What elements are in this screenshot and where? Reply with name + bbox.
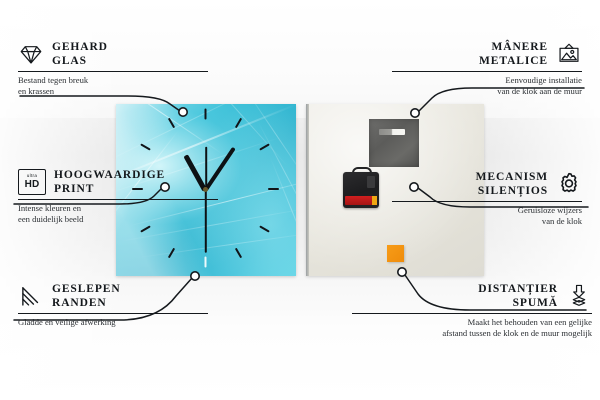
spacer-stack-icon — [566, 283, 592, 309]
foam-spacer — [387, 245, 404, 262]
product-feature-infographic: GEHARD GLAS Bestand tegen breuk en krass… — [0, 0, 600, 400]
feature-title: GESLEPEN RANDEN — [52, 282, 121, 310]
hanger-slot — [379, 129, 405, 135]
feature-description-line1: Maakt het behouden van een gelijke — [352, 317, 592, 328]
feature-description-line2: van de klok aan de muur — [392, 86, 582, 97]
title-underline — [18, 313, 208, 314]
feature-header: GEHARD GLAS — [18, 40, 208, 68]
feature-gehard-glas[interactable]: GEHARD GLAS Bestand tegen breuk en krass… — [18, 40, 208, 98]
feature-title: MÂNERE METALICE — [479, 40, 548, 68]
feature-description-line1: Geruisloze wijzers — [392, 205, 582, 216]
diamond-icon — [18, 41, 44, 67]
ultra-hd-icon: ultra HD — [18, 169, 46, 195]
gear-icon — [556, 171, 582, 197]
feature-description-line1: Intense kleuren en — [18, 203, 218, 214]
picture-frame-icon — [556, 41, 582, 67]
feature-header: MÂNERE METALICE — [392, 40, 582, 68]
feature-title: GEHARD GLAS — [52, 40, 108, 68]
metal-hanger-plate — [369, 119, 419, 167]
feature-title: DISTANȚIER SPUMĂ — [478, 282, 558, 310]
title-underline — [18, 199, 218, 200]
feature-description-line1: Bestand tegen breuk — [18, 75, 208, 86]
title-underline — [392, 71, 582, 72]
feature-hoogwaardige-print[interactable]: ultra HD HOOGWAARDIGE PRINT Intense kleu… — [18, 168, 218, 226]
feature-header: GESLEPEN RANDEN — [18, 282, 208, 310]
feature-description-line2: en krassen — [18, 86, 208, 97]
mechanism-notch — [367, 176, 375, 188]
battery — [345, 196, 373, 205]
feature-title: HOOGWAARDIGE PRINT — [54, 168, 165, 196]
title-underline — [392, 201, 582, 202]
feature-distantier-spuma[interactable]: DISTANȚIER SPUMĂ Maakt het behouden van … — [352, 282, 592, 340]
clock-mechanism — [343, 172, 379, 208]
feature-mecanism-silentios[interactable]: MECANISM SILENȚIOS Geruisloze wijzers va… — [392, 170, 582, 228]
feature-manere-metalice[interactable]: MÂNERE METALICE Eenvoudige installatie v… — [392, 40, 582, 98]
feature-header: MECANISM SILENȚIOS — [392, 170, 582, 198]
feature-description-line2: afstand tussen de klok en de muur mogeli… — [352, 328, 592, 339]
battery-terminal — [372, 196, 377, 205]
feature-header: ultra HD HOOGWAARDIGE PRINT — [18, 168, 218, 196]
feature-description-line2: van de klok — [392, 216, 582, 227]
feature-header: DISTANȚIER SPUMĂ — [352, 282, 592, 310]
feature-title: MECANISM SILENȚIOS — [476, 170, 548, 198]
feature-description-line2: een duidelijk beeld — [18, 214, 218, 225]
feature-description-line1: Gladde en veilige afwerking — [18, 317, 208, 328]
title-underline — [18, 71, 208, 72]
title-underline — [352, 313, 592, 314]
feature-description-line1: Eenvoudige installatie — [392, 75, 582, 86]
bevelled-edge-icon — [18, 283, 44, 309]
feature-geslepen-randen[interactable]: GESLEPEN RANDEN Gladde en veilige afwerk… — [18, 282, 208, 328]
panel-left-edge — [306, 104, 309, 276]
